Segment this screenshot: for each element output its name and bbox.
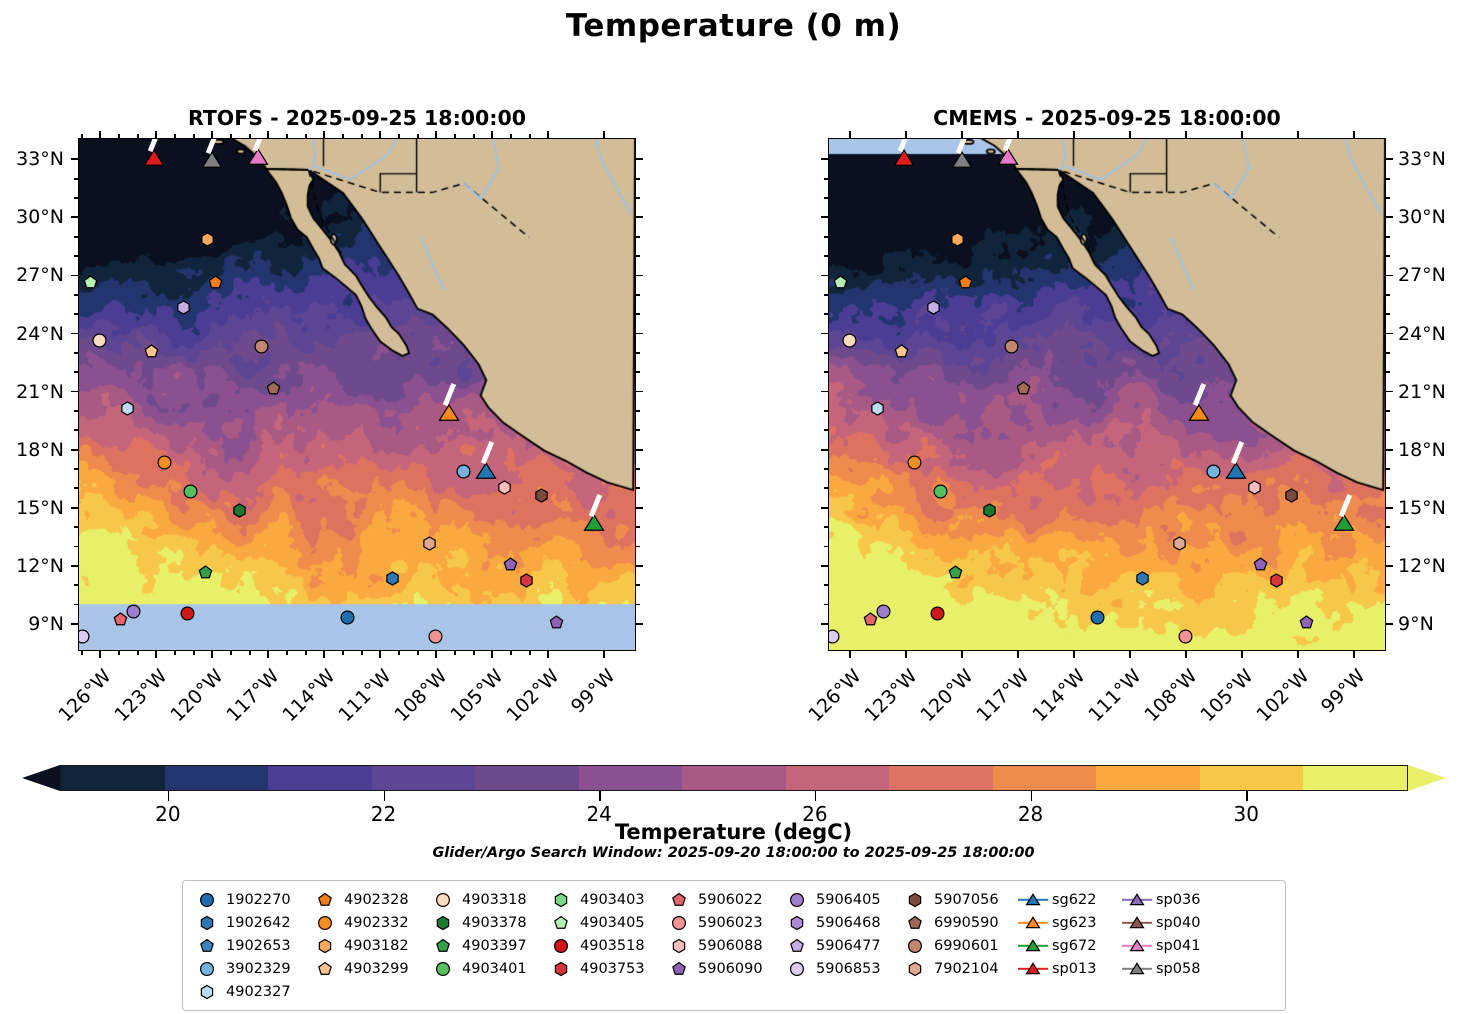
colorbar <box>22 765 1446 791</box>
xtick-rtofs-6 <box>435 651 437 658</box>
ytick-minor-r <box>636 294 640 296</box>
colorbar-band-12 <box>1303 766 1407 790</box>
legend-label-4902332: 4902332 <box>340 915 409 931</box>
legend-item-5906090[interactable]: 5906090 <box>664 957 782 980</box>
ytick-minor <box>74 236 78 238</box>
ytick-minor <box>74 294 78 296</box>
legend-item-7902104[interactable]: 7902104 <box>900 957 1018 980</box>
legend-symbol-4903405 <box>546 913 576 933</box>
ytick-minor <box>74 429 78 431</box>
legend-label-sp040: sp040 <box>1152 915 1200 931</box>
legend-symbol-4903378 <box>428 913 458 933</box>
ytick-minor-r <box>636 197 640 199</box>
map-marker-5906853[interactable] <box>78 629 90 644</box>
ytick-rtofs-27 <box>71 275 78 277</box>
xlabel-cmems-4: 114°W <box>1023 665 1089 731</box>
map-marker-5906853[interactable] <box>828 629 840 644</box>
map-marker-5906023[interactable] <box>428 629 443 644</box>
ylabel-18: 18°N <box>0 439 64 461</box>
xtick-minor-top <box>342 134 344 138</box>
legend-symbol-4903403 <box>546 890 576 910</box>
map-marker-5906022[interactable] <box>863 612 878 627</box>
xtick-minor <box>118 651 120 655</box>
ytick-right-rtofs-30 <box>636 216 643 218</box>
ytick-minor <box>824 236 828 238</box>
legend-symbol-5906468 <box>782 913 812 933</box>
map-marker-5906022[interactable] <box>113 612 128 627</box>
xtick-minor <box>342 651 344 655</box>
legend-label-4903378: 4903378 <box>458 915 527 931</box>
map-marker-5906090[interactable] <box>503 557 518 572</box>
xtick-top-rtofs-0 <box>99 131 101 138</box>
legend-label-sp013: sp013 <box>1048 961 1096 977</box>
xtick-rtofs-5 <box>379 651 381 658</box>
map-marker-5906405[interactable] <box>876 604 891 619</box>
colorbar-band-6 <box>682 766 786 790</box>
legend-item-4903182[interactable]: 4903182 <box>310 934 428 957</box>
map-marker-5906090b[interactable] <box>549 615 564 630</box>
legend-column-0: 19022701902642190265339023294902327 <box>192 888 310 1003</box>
legend-item-sp040[interactable]: sp040 <box>1122 911 1226 934</box>
xtick-top-cmems-8 <box>1297 131 1299 138</box>
xtick-rtofs-0 <box>99 651 101 658</box>
xtick-minor-top <box>137 134 139 138</box>
legend-item-5906853[interactable]: 5906853 <box>782 957 900 980</box>
map-marker-4903299[interactable] <box>894 344 909 359</box>
map-marker-4903405[interactable] <box>83 275 98 290</box>
map-marker-4903318[interactable] <box>842 333 857 348</box>
legend-label-6990601: 6990601 <box>930 938 999 954</box>
ytick-minor <box>824 197 828 199</box>
map-marker-sg622[interactable] <box>1224 460 1248 484</box>
map-marker-4903299[interactable] <box>144 344 159 359</box>
colorbar-band-7 <box>786 766 890 790</box>
xtick-rtofs-1 <box>155 651 157 658</box>
legend-item-sp058[interactable]: sp058 <box>1122 957 1226 980</box>
legend-item-4903405[interactable]: 4903405 <box>546 911 664 934</box>
legend-item-sg622[interactable]: sg622 <box>1018 888 1122 911</box>
legend-item-4902327[interactable]: 4902327 <box>192 980 310 1003</box>
xlabel-rtofs-0: 126°W <box>49 665 115 731</box>
legend-label-4903397: 4903397 <box>458 938 527 954</box>
ytick-minor <box>74 468 78 470</box>
legend-symbol-sp040 <box>1122 913 1152 933</box>
legend-item-sg672[interactable]: sg672 <box>1018 934 1122 957</box>
colorbar-band-0 <box>61 766 165 790</box>
ytick-minor-r <box>1386 604 1390 606</box>
xtick-top-rtofs-3 <box>267 131 269 138</box>
legend-label-4903182: 4903182 <box>340 938 409 954</box>
legend-symbol-5906090 <box>664 959 694 979</box>
xtick-top-rtofs-2 <box>211 131 213 138</box>
xlabel-rtofs-1: 123°W <box>105 665 171 731</box>
legend-item-4903753[interactable]: 4903753 <box>546 957 664 980</box>
map-marker-4902332[interactable] <box>200 232 215 247</box>
legend-item-5906477[interactable]: 5906477 <box>782 934 900 957</box>
xtick-minor-top <box>249 134 251 138</box>
xtick-cmems-3 <box>1017 651 1019 658</box>
xlabel-cmems-9: 99°W <box>1303 665 1369 731</box>
ytick-rtofs-21 <box>71 391 78 393</box>
ytick-minor-r <box>1386 410 1390 412</box>
map-marker-4902332b[interactable] <box>907 455 922 470</box>
ytick-minor <box>824 546 828 548</box>
map-marker-1902653[interactable] <box>1206 464 1221 479</box>
ytick-right-cmems-30 <box>1386 216 1393 218</box>
xtick-rtofs-9 <box>603 651 605 658</box>
ytick-minor <box>74 526 78 528</box>
map-marker-6990590[interactable] <box>266 381 281 396</box>
ytick-cmems-9 <box>821 623 828 625</box>
ytick-minor <box>74 604 78 606</box>
legend-item-4903401[interactable]: 4903401 <box>428 957 546 980</box>
xtick-minor <box>529 651 531 655</box>
xtick-top-cmems-1 <box>905 131 907 138</box>
map-marker-sg672[interactable] <box>582 512 606 536</box>
ylabel-right-12: 12°N <box>1398 555 1467 577</box>
legend-symbol-5906022 <box>664 890 694 910</box>
legend-label-4903401: 4903401 <box>458 961 527 977</box>
map-marker-sp013[interactable] <box>142 147 166 171</box>
legend-item-1902642[interactable]: 1902642 <box>192 911 310 934</box>
map-marker-5907056[interactable] <box>1284 488 1299 503</box>
map-marker-1902642[interactable] <box>1135 571 1150 586</box>
map-marker-4903405[interactable] <box>833 275 848 290</box>
xtick-cmems-2 <box>961 651 963 658</box>
ytick-minor <box>824 526 828 528</box>
legend-item-4903378[interactable]: 4903378 <box>428 911 546 934</box>
ytick-minor <box>824 604 828 606</box>
ytick-minor-r <box>1386 352 1390 354</box>
ylabel-30: 30°N <box>0 206 64 228</box>
map-marker-6990601[interactable] <box>1004 339 1019 354</box>
map-marker-sp058[interactable] <box>950 149 974 173</box>
map-marker-4903397[interactable] <box>198 565 213 580</box>
legend-symbol-4902328 <box>310 890 340 910</box>
xlabel-cmems-5: 111°W <box>1079 665 1145 731</box>
legend-item-5906468[interactable]: 5906468 <box>782 911 900 934</box>
map-marker-1902270[interactable] <box>1090 610 1105 625</box>
ylabel-33: 33°N <box>0 148 64 170</box>
ylabel-right-9: 9°N <box>1398 613 1467 635</box>
xtick-top-cmems-0 <box>849 131 851 138</box>
colorbar-tick-28 <box>1031 791 1033 801</box>
ytick-minor-r <box>636 604 640 606</box>
legend-label-4902328: 4902328 <box>340 892 409 908</box>
map-marker-sp041[interactable] <box>246 146 270 170</box>
legend-symbol-1902270 <box>192 890 222 910</box>
ylabel-right-24: 24°N <box>1398 323 1467 345</box>
ytick-minor-r <box>636 255 640 257</box>
map-marker-4903318[interactable] <box>92 333 107 348</box>
ytick-cmems-27 <box>821 275 828 277</box>
ytick-minor-r <box>636 313 640 315</box>
xtick-minor <box>249 651 251 655</box>
figure-title: Temperature (0 m) <box>0 8 1467 44</box>
legend-item-4902328[interactable]: 4902328 <box>310 888 428 911</box>
map-marker-4903397[interactable] <box>948 565 963 580</box>
colorbar-tick-22 <box>384 791 386 801</box>
xlabel-cmems-7: 105°W <box>1191 665 1257 731</box>
xtick-minor <box>230 651 232 655</box>
map-marker-5907056[interactable] <box>534 488 549 503</box>
legend-label-5906853: 5906853 <box>812 961 881 977</box>
map-marker-4903518[interactable] <box>180 606 195 621</box>
xtick-rtofs-2 <box>211 651 213 658</box>
legend-item-1902270[interactable]: 1902270 <box>192 888 310 911</box>
legend-label-4903753: 4903753 <box>576 961 645 977</box>
ytick-rtofs-9 <box>71 623 78 625</box>
ytick-minor <box>824 584 828 586</box>
map-marker-5906088[interactable] <box>1247 480 1262 495</box>
legend-symbol-4902327 <box>192 982 222 1002</box>
map-panel-cmems[interactable] <box>828 138 1386 651</box>
panel-title-rtofs: RTOFS - 2025-09-25 18:00:00 <box>78 106 636 130</box>
legend-item-6990590[interactable]: 6990590 <box>900 911 1018 934</box>
ytick-minor-r <box>1386 294 1390 296</box>
legend-label-4903405: 4903405 <box>576 915 645 931</box>
legend-item-5906405[interactable]: 5906405 <box>782 888 900 911</box>
colorbar-band-3 <box>372 766 476 790</box>
legend-item-sp036[interactable]: sp036 <box>1122 888 1226 911</box>
legend-item-5907056[interactable]: 5907056 <box>900 888 1018 911</box>
ytick-minor <box>74 487 78 489</box>
map-marker-6990590[interactable] <box>1016 381 1031 396</box>
xtick-top-rtofs-1 <box>155 131 157 138</box>
ytick-rtofs-15 <box>71 507 78 509</box>
legend-symbol-sg623 <box>1018 913 1048 933</box>
map-marker-5906088[interactable] <box>497 480 512 495</box>
xtick-top-rtofs-4 <box>323 131 325 138</box>
map-marker-4903518[interactable] <box>930 606 945 621</box>
legend-item-4902332[interactable]: 4902332 <box>310 911 428 934</box>
xtick-minor <box>193 651 195 655</box>
map-marker-6990601[interactable] <box>254 339 269 354</box>
legend-symbol-3902329 <box>192 959 222 979</box>
ytick-minor <box>824 313 828 315</box>
legend-symbol-sp058 <box>1122 959 1152 979</box>
legend-item-4903318[interactable]: 4903318 <box>428 888 546 911</box>
landmask-cmems <box>829 139 1385 650</box>
ylabel-27: 27°N <box>0 264 64 286</box>
search-window-caption: Glider/Argo Search Window: 2025-09-20 18… <box>0 845 1467 861</box>
legend-label-5906088: 5906088 <box>694 938 763 954</box>
colorbar-band-9 <box>993 766 1097 790</box>
xlabel-rtofs-9: 99°W <box>553 665 619 731</box>
map-marker-sg623[interactable] <box>1187 402 1211 426</box>
xtick-top-rtofs-7 <box>491 131 493 138</box>
map-marker-4903753[interactable] <box>1269 573 1284 588</box>
xtick-minor-top <box>286 134 288 138</box>
ytick-minor <box>74 178 78 180</box>
map-marker-5906090b[interactable] <box>1299 615 1314 630</box>
ytick-minor-r <box>636 178 640 180</box>
map-marker-5906477[interactable] <box>926 300 941 315</box>
legend-symbol-4903753 <box>546 959 576 979</box>
map-marker-7902104[interactable] <box>422 536 437 551</box>
xlabel-cmems-1: 123°W <box>855 665 921 731</box>
legend-label-1902270: 1902270 <box>222 892 291 908</box>
legend-item-4903518[interactable]: 4903518 <box>546 934 664 957</box>
legend-label-5906022: 5906022 <box>694 892 763 908</box>
map-marker-4902332b[interactable] <box>157 455 172 470</box>
map-marker-sg672[interactable] <box>1332 512 1356 536</box>
xtick-top-cmems-2 <box>961 131 963 138</box>
map-marker-sp013[interactable] <box>892 147 916 171</box>
panel-title-cmems: CMEMS - 2025-09-25 18:00:00 <box>828 106 1386 130</box>
map-marker-4902328[interactable] <box>208 275 223 290</box>
legend-symbol-4903182 <box>310 936 340 956</box>
legend-symbol-sg622 <box>1018 890 1048 910</box>
ytick-cmems-24 <box>821 333 828 335</box>
map-marker-4903753[interactable] <box>519 573 534 588</box>
ylabel-right-21: 21°N <box>1398 381 1467 403</box>
map-marker-4902332[interactable] <box>950 232 965 247</box>
legend-column-1: 4902328490233249031824903299 <box>310 888 428 980</box>
xtick-minor <box>454 651 456 655</box>
xlabel-cmems-8: 102°W <box>1247 665 1313 731</box>
ylabel-right-18: 18°N <box>1398 439 1467 461</box>
map-marker-sg622[interactable] <box>474 460 498 484</box>
xtick-minor <box>305 651 307 655</box>
map-marker-4902327[interactable] <box>120 401 135 416</box>
ytick-minor-r <box>1386 584 1390 586</box>
map-marker-4903401[interactable] <box>933 484 948 499</box>
legend-item-1902653[interactable]: 1902653 <box>192 934 310 957</box>
xtick-minor-top <box>118 134 120 138</box>
ytick-rtofs-30 <box>71 216 78 218</box>
legend-column-7: sg622sg623sg672sp013 <box>1018 888 1122 980</box>
ytick-rtofs-24 <box>71 333 78 335</box>
xtick-top-cmems-5 <box>1129 131 1131 138</box>
xtick-minor-top <box>529 134 531 138</box>
ytick-minor <box>74 546 78 548</box>
xtick-cmems-6 <box>1185 651 1187 658</box>
legend-symbol-4903299 <box>310 959 340 979</box>
xtick-rtofs-8 <box>547 651 549 658</box>
xtick-rtofs-4 <box>323 651 325 658</box>
xtick-minor <box>286 651 288 655</box>
ytick-minor-r <box>636 410 640 412</box>
xtick-minor <box>174 651 176 655</box>
ytick-minor-r <box>636 468 640 470</box>
legend-item-5906022[interactable]: 5906022 <box>664 888 782 911</box>
xtick-cmems-7 <box>1241 651 1243 658</box>
map-marker-5906477[interactable] <box>176 300 191 315</box>
ytick-minor-r <box>636 584 640 586</box>
legend-item-4903403[interactable]: 4903403 <box>546 888 664 911</box>
map-marker-5906405[interactable] <box>126 604 141 619</box>
xlabel-rtofs-4: 114°W <box>273 665 339 731</box>
ytick-minor <box>74 255 78 257</box>
legend-symbol-5906088 <box>664 936 694 956</box>
ylabel-12: 12°N <box>0 555 64 577</box>
map-marker-5906090[interactable] <box>1253 557 1268 572</box>
map-marker-1902270[interactable] <box>340 610 355 625</box>
map-marker-4903401[interactable] <box>183 484 198 499</box>
legend-item-3902329[interactable]: 3902329 <box>192 957 310 980</box>
ylabel-right-15: 15°N <box>1398 497 1467 519</box>
legend-label-sg623: sg623 <box>1048 915 1096 931</box>
ytick-rtofs-18 <box>71 449 78 451</box>
ytick-minor-r <box>636 429 640 431</box>
legend-symbol-4902332 <box>310 913 340 933</box>
legend-label-sp041: sp041 <box>1152 938 1200 954</box>
xtick-minor <box>417 651 419 655</box>
colorbar-over-arrow <box>1408 765 1446 791</box>
legend-label-sg672: sg672 <box>1048 938 1096 954</box>
map-marker-7902104[interactable] <box>1172 536 1187 551</box>
xtick-minor-top <box>454 134 456 138</box>
ytick-right-cmems-9 <box>1386 623 1393 625</box>
xtick-cmems-9 <box>1353 651 1355 658</box>
ytick-right-cmems-18 <box>1386 449 1393 451</box>
map-marker-sg623[interactable] <box>437 402 461 426</box>
map-marker-4902328[interactable] <box>958 275 973 290</box>
ytick-cmems-30 <box>821 216 828 218</box>
ytick-minor <box>824 410 828 412</box>
xtick-top-cmems-3 <box>1017 131 1019 138</box>
legend-column-2: 4903318490337849033974903401 <box>428 888 546 980</box>
map-marker-sp058[interactable] <box>200 149 224 173</box>
legend-symbol-4903397 <box>428 936 458 956</box>
legend-symbol-4903318 <box>428 890 458 910</box>
ylabel-right-30: 30°N <box>1398 206 1467 228</box>
ytick-rtofs-33 <box>71 158 78 160</box>
xtick-minor <box>81 651 83 655</box>
ytick-minor-r <box>1386 197 1390 199</box>
legend-item-5906088[interactable]: 5906088 <box>664 934 782 957</box>
map-marker-1902642[interactable] <box>385 571 400 586</box>
colorbar-tick-24 <box>599 791 601 801</box>
legend-item-6990601[interactable]: 6990601 <box>900 934 1018 957</box>
xtick-minor-top <box>193 134 195 138</box>
ytick-minor-r <box>636 526 640 528</box>
legend-item-sp013[interactable]: sp013 <box>1018 957 1122 980</box>
map-marker-1902653[interactable] <box>456 464 471 479</box>
legend-item-sg623[interactable]: sg623 <box>1018 911 1122 934</box>
xtick-minor-top <box>305 134 307 138</box>
legend-symbol-sp036 <box>1122 890 1152 910</box>
legend-symbol-1902642 <box>192 913 222 933</box>
ytick-right-cmems-33 <box>1386 158 1393 160</box>
legend-symbol-sp041 <box>1122 936 1152 956</box>
xtick-minor <box>361 651 363 655</box>
ytick-minor <box>74 584 78 586</box>
xtick-minor-top <box>510 134 512 138</box>
legend-item-4903299[interactable]: 4903299 <box>310 957 428 980</box>
ytick-right-rtofs-27 <box>636 275 643 277</box>
map-marker-4902327[interactable] <box>870 401 885 416</box>
map-marker-sp041[interactable] <box>996 146 1020 170</box>
ytick-minor-r <box>636 352 640 354</box>
map-marker-4903378[interactable] <box>232 503 247 518</box>
legend-item-sp041[interactable]: sp041 <box>1122 934 1226 957</box>
ytick-right-cmems-15 <box>1386 507 1393 509</box>
colorbar-tick-30 <box>1246 791 1248 801</box>
legend-item-5906023[interactable]: 5906023 <box>664 911 782 934</box>
map-panel-rtofs[interactable] <box>78 138 636 651</box>
ytick-minor <box>74 197 78 199</box>
legend-column-5: 5906405590646859064775906853 <box>782 888 900 980</box>
map-marker-4903378[interactable] <box>982 503 997 518</box>
colorbar-band-5 <box>579 766 683 790</box>
ytick-minor <box>824 352 828 354</box>
map-marker-5906023[interactable] <box>1178 629 1193 644</box>
xlabel-rtofs-5: 111°W <box>329 665 395 731</box>
legend-item-4903397[interactable]: 4903397 <box>428 934 546 957</box>
xtick-top-rtofs-9 <box>603 131 605 138</box>
